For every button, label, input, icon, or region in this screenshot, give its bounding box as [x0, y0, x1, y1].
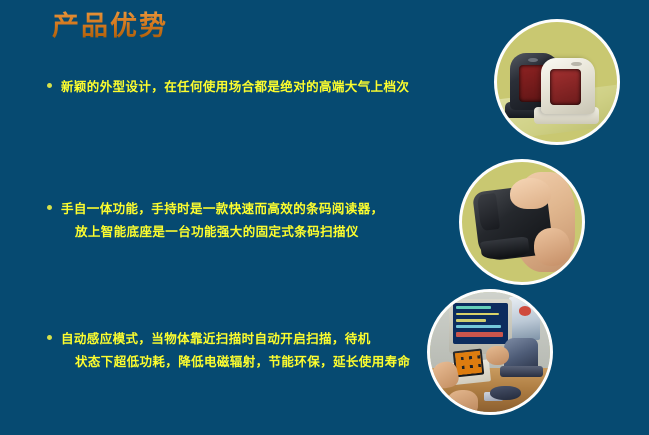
operator-hand-shape: [447, 390, 478, 414]
dot-bullet-icon: [47, 335, 52, 340]
list-item-line: 自动感应模式，当物体靠近扫描时自动开启扫描，待机: [61, 328, 447, 351]
fixed-scanner-base-shape: [500, 366, 543, 377]
keypad-keys-shape: [455, 351, 482, 375]
product-advantages-slide: 产品优势 新颖的外型设计，在任何使用场合都是绝对的高端大气上档次 手自一体功能，…: [0, 0, 649, 435]
list-item: 新颖的外型设计，在任何使用场合都是绝对的高端大气上档次: [47, 76, 447, 99]
scanner-pair-illustration: [497, 22, 617, 142]
counter-item-shape: [490, 386, 521, 400]
list-item-text: 手自一体功能，手持时是一款快速而高效的条码阅读器， 放上智能底座是一台功能强大的…: [61, 198, 447, 244]
list-item-line: 状态下超低功耗，降低电磁辐射，节能环保，延长使用寿命: [61, 351, 447, 374]
white-scanner-window-shape: [550, 69, 581, 105]
countertop-scanners-photo: [494, 19, 620, 145]
screen-row-shape: [456, 313, 499, 316]
monitor-screen-shape: [453, 303, 508, 344]
dot-bullet-icon: [47, 205, 52, 210]
screen-row-shape: [456, 306, 491, 309]
handheld-scanner-in-hand-photo: [459, 159, 585, 285]
list-item-text: 新颖的外型设计，在任何使用场合都是绝对的高端大气上档次: [61, 76, 447, 99]
list-item: 手自一体功能，手持时是一款快速而高效的条码阅读器， 放上智能底座是一台功能强大的…: [47, 198, 447, 244]
advantages-list: 新颖的外型设计，在任何使用场合都是绝对的高端大气上档次 手自一体功能，手持时是一…: [0, 0, 460, 435]
screen-row-shape: [456, 319, 486, 322]
poster-badge-shape: [519, 306, 531, 316]
checkout-illustration: [430, 292, 550, 412]
thumb-shape: [534, 228, 570, 266]
pos-checkout-station-photo: [427, 289, 553, 415]
list-item-line: 新颖的外型设计，在任何使用场合都是绝对的高端大气上档次: [61, 76, 447, 99]
list-item-line: 放上智能底座是一台功能强大的固定式条码扫描仪: [61, 221, 447, 244]
list-item-text: 自动感应模式，当物体靠近扫描时自动开启扫描，待机 状态下超低功耗，降低电磁辐射，…: [61, 328, 447, 374]
dot-bullet-icon: [47, 83, 52, 88]
poster-shape: [509, 297, 540, 340]
list-item-line: 手自一体功能，手持时是一款快速而高效的条码阅读器，: [61, 198, 447, 221]
screen-row-shape: [456, 332, 503, 337]
finger-shape: [510, 178, 551, 209]
screen-row-shape: [456, 325, 501, 328]
operator-hand-shape: [486, 346, 509, 365]
list-item: 自动感应模式，当物体靠近扫描时自动开启扫描，待机 状态下超低功耗，降低电磁辐射，…: [47, 328, 447, 374]
hand-scanner-illustration: [462, 162, 582, 282]
